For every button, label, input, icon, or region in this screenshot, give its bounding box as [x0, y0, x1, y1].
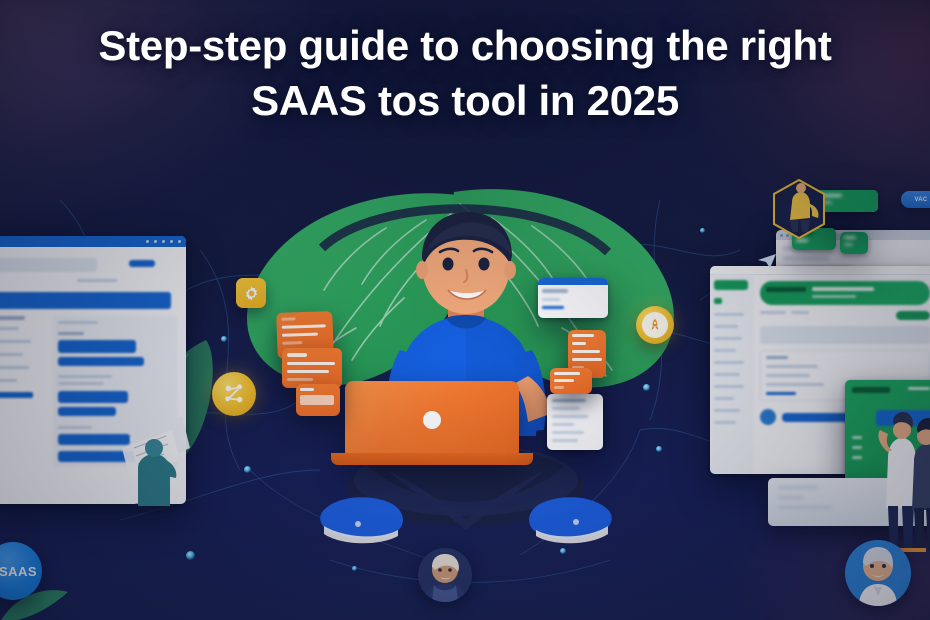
- hero-title-line-1: Step-step guide to choosing the right: [10, 18, 920, 73]
- hero-title-line-2: SAAS tos tool in 2025: [10, 73, 920, 128]
- hero-title: Step-step guide to choosing the right SA…: [0, 18, 930, 129]
- hero-banner: SAAS VAC Step-step guide to choosing the…: [0, 0, 930, 620]
